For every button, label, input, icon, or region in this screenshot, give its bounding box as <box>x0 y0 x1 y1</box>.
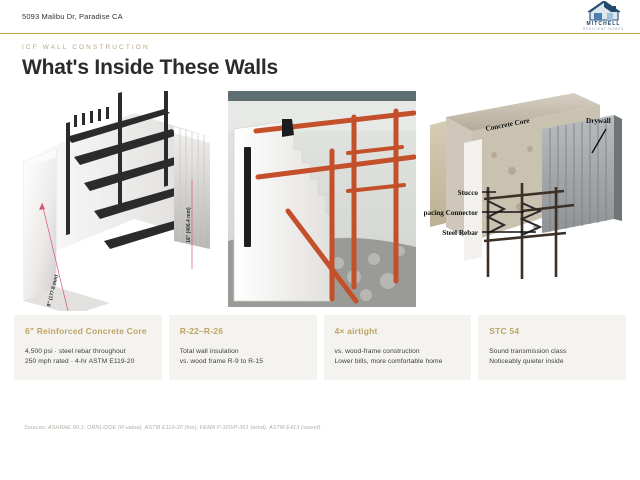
stat-card: R-22–R-26 Total wall insulation vs. wood… <box>169 315 317 380</box>
stat-card-line: 4,500 psi · steel rebar throughout <box>25 347 151 357</box>
stat-card-line: vs. wood-frame construction <box>335 347 461 357</box>
stat-card-line: vs. wood frame R-9 to R-15 <box>180 357 306 367</box>
stat-card-line: Sound transmission class <box>489 347 615 357</box>
property-address: 5093 Malibu Dr, Paradise CA <box>22 12 123 21</box>
svg-text:Steel Rebar: Steel Rebar <box>442 229 479 237</box>
stat-card: STC 54 Sound transmission class Noticeab… <box>478 315 626 380</box>
icf-rebar-photo <box>228 91 416 307</box>
icf-block-cutaway-diagram: 8" (177.8 mm) 2.5" 63.5 mm 16" (406.4 mm… <box>14 91 220 311</box>
brand-logo[interactable]: MITCHELL RESILIENT HOMES <box>583 1 624 31</box>
stat-cards-row: 6" Reinforced Concrete Core 4,500 psi · … <box>0 315 640 380</box>
svg-text:Drywall: Drywall <box>586 117 611 125</box>
brand-tagline: RESILIENT HOMES <box>583 28 624 31</box>
eyebrow-label: ICF WALL CONSTRUCTION <box>22 44 640 51</box>
stat-card-line: Total wall insulation <box>180 347 306 357</box>
page-title: What's Inside These Walls <box>22 57 640 79</box>
stat-card: 4× airtight vs. wood-frame construction … <box>324 315 472 380</box>
stat-card-line: 250 mph rated · 4-hr ASTM E119-20 <box>25 357 151 367</box>
stat-card-title: 6" Reinforced Concrete Core <box>25 326 151 336</box>
svg-text:16" (406.4 mm): 16" (406.4 mm) <box>186 207 192 243</box>
figures-row: 8" (177.8 mm) 2.5" 63.5 mm 16" (406.4 mm… <box>0 85 640 311</box>
stat-card: 6" Reinforced Concrete Core 4,500 psi · … <box>14 315 162 380</box>
stat-card-title: STC 54 <box>489 326 615 336</box>
stat-card-title: R-22–R-26 <box>180 326 306 336</box>
page-header: 5093 Malibu Dr, Paradise CA MITCHELL RES… <box>0 0 640 34</box>
svg-text:Stucco: Stucco <box>458 189 479 197</box>
icf-wall-assembly-diagram: Concrete Core Drywall Stucco Spacing Con… <box>424 91 630 311</box>
svg-text:Spacing Connector: Spacing Connector <box>424 209 479 217</box>
stat-card-title: 4× airtight <box>335 326 461 336</box>
house-logo-icon <box>587 1 621 21</box>
stat-card-line: Noticeably quieter inside <box>489 357 615 367</box>
sources-note: Sources: ASHRAE 90.1; ORNL/DOE (R-value)… <box>24 425 322 431</box>
stat-card-line: Lower bills, more comfortable home <box>335 357 461 367</box>
title-block: ICF WALL CONSTRUCTION What's Inside Thes… <box>0 34 640 85</box>
